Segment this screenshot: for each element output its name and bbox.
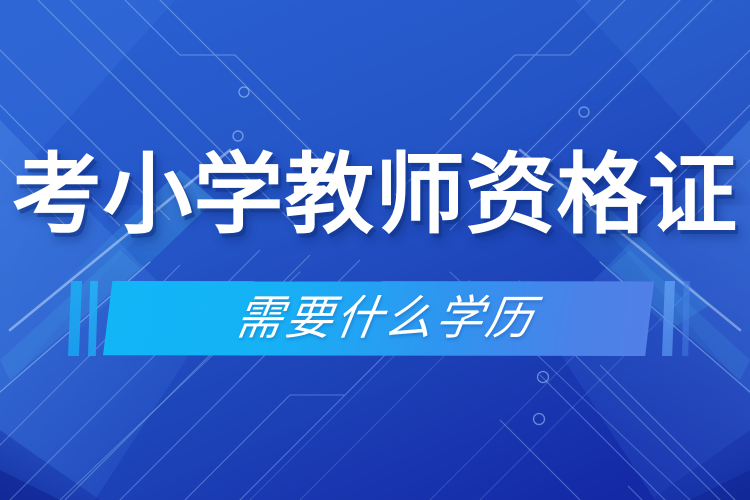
accent-bar-right-outer	[682, 281, 690, 356]
subtitle-text: 需要什么学历	[218, 295, 539, 342]
accent-bar-left-outer	[68, 281, 82, 356]
accent-bar-left-inner	[88, 281, 98, 356]
accent-bar-right-inner	[662, 281, 675, 356]
subtitle-band-group: 需要什么学历	[0, 278, 750, 362]
subtitle-container: 需要什么学历	[103, 281, 654, 356]
banner-root: 考小学教师资格证 需要什么学历	[0, 0, 750, 500]
main-title-container: 考小学教师资格证	[0, 136, 750, 254]
main-title: 考小学教师资格证	[12, 151, 738, 239]
